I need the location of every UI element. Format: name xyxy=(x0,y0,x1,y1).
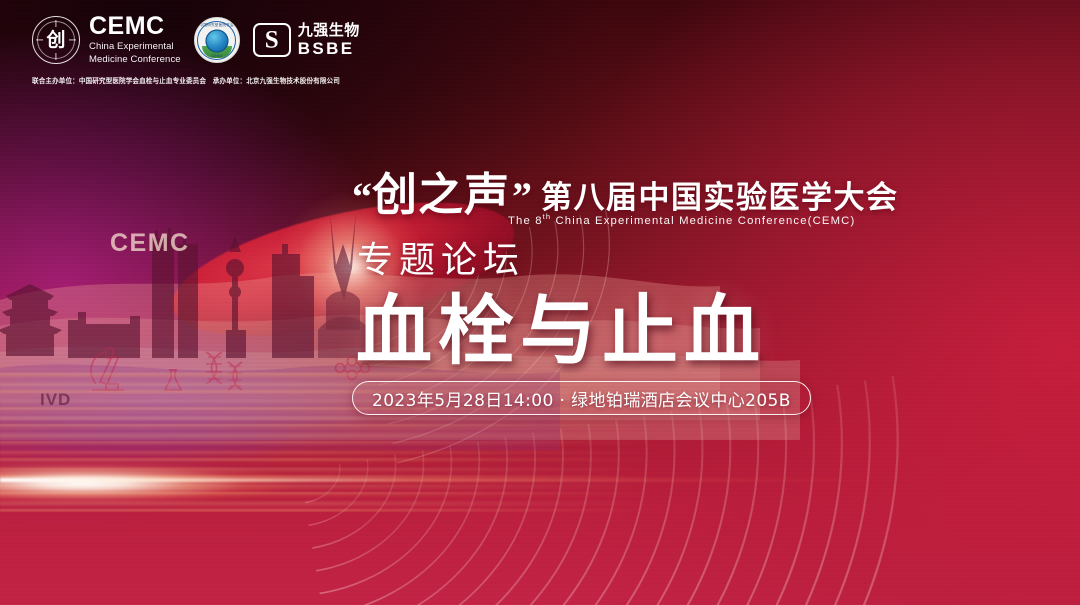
bsbe-wordmark: 九强生物 BSBE xyxy=(298,23,360,57)
slogan-text: 创之声 xyxy=(372,172,510,217)
crha-emblem-icon[interactable]: 中国研究型医院学会 CRHA xyxy=(194,17,240,63)
cemc-logo[interactable]: 创 CEMC China Experimental Medicine Confe… xyxy=(32,14,181,65)
bsbe-mark-letter: S xyxy=(265,28,279,53)
bsbe-mark-icon: S xyxy=(253,23,291,57)
conference-headline: “ 创之声 ” 第八届中国实验医学大会 xyxy=(352,172,899,217)
page-title: 血栓与止血 xyxy=(356,294,766,370)
light-burst-beam xyxy=(0,478,900,482)
flask-icon xyxy=(165,370,181,390)
cemc-seal-icon: 创 xyxy=(32,16,80,64)
dna-helix-icon xyxy=(206,352,222,384)
cemc-wordmark: CEMC China Experimental Medicine Confere… xyxy=(89,14,181,65)
poster-canvas: CEMC IVD 创 CEMC China Experimental Medic… xyxy=(0,0,1080,605)
forum-label: 专题论坛 xyxy=(357,243,525,279)
event-meta-pill: 2023年5月28日14:00 · 绿地铂瑞酒店会议中心205B xyxy=(352,381,811,415)
event-datetime-venue: 2023年5月28日14:00 · 绿地铂瑞酒店会议中心205B xyxy=(372,386,791,411)
cemc-full-line1: China Experimental xyxy=(89,41,181,53)
conf-en-post: China Experimental Medicine Conference(C… xyxy=(551,215,855,227)
crha-bottom-text: CRHA xyxy=(195,54,239,58)
header-logo-bar: 创 CEMC China Experimental Medicine Confe… xyxy=(32,12,392,85)
microscope-icon xyxy=(100,356,118,384)
cemc-full-line2: Medicine Conference xyxy=(89,54,181,66)
conf-en-ordinal: th xyxy=(543,212,552,221)
quote-left: “ xyxy=(352,177,372,217)
bsbe-name-en: BSBE xyxy=(298,40,360,57)
cemc-full-name: China Experimental Medicine Conference xyxy=(89,41,181,65)
bsbe-name-cn: 九强生物 xyxy=(298,23,360,38)
cemc-watermark: CEMC xyxy=(110,229,190,258)
organizers-line: 联合主办单位：中国研究型医院学会血栓与止血专业委员会 承办单位：北京九强生物技术… xyxy=(32,75,392,85)
crha-top-text: 中国研究型医院学会 xyxy=(195,23,239,28)
bsbe-logo[interactable]: S 九强生物 BSBE xyxy=(253,23,360,57)
conf-en-pre: The 8 xyxy=(508,215,543,227)
dna-helix-icon-2 xyxy=(228,362,242,390)
logo-row: 创 CEMC China Experimental Medicine Confe… xyxy=(32,12,392,68)
ivd-watermark: IVD xyxy=(40,390,71,410)
conference-name-english: The 8th China Experimental Medicine Conf… xyxy=(508,212,855,227)
cemc-seal-character: 创 xyxy=(46,31,65,50)
quote-right: ” xyxy=(512,177,532,217)
cemc-abbreviation: CEMC xyxy=(89,14,181,39)
